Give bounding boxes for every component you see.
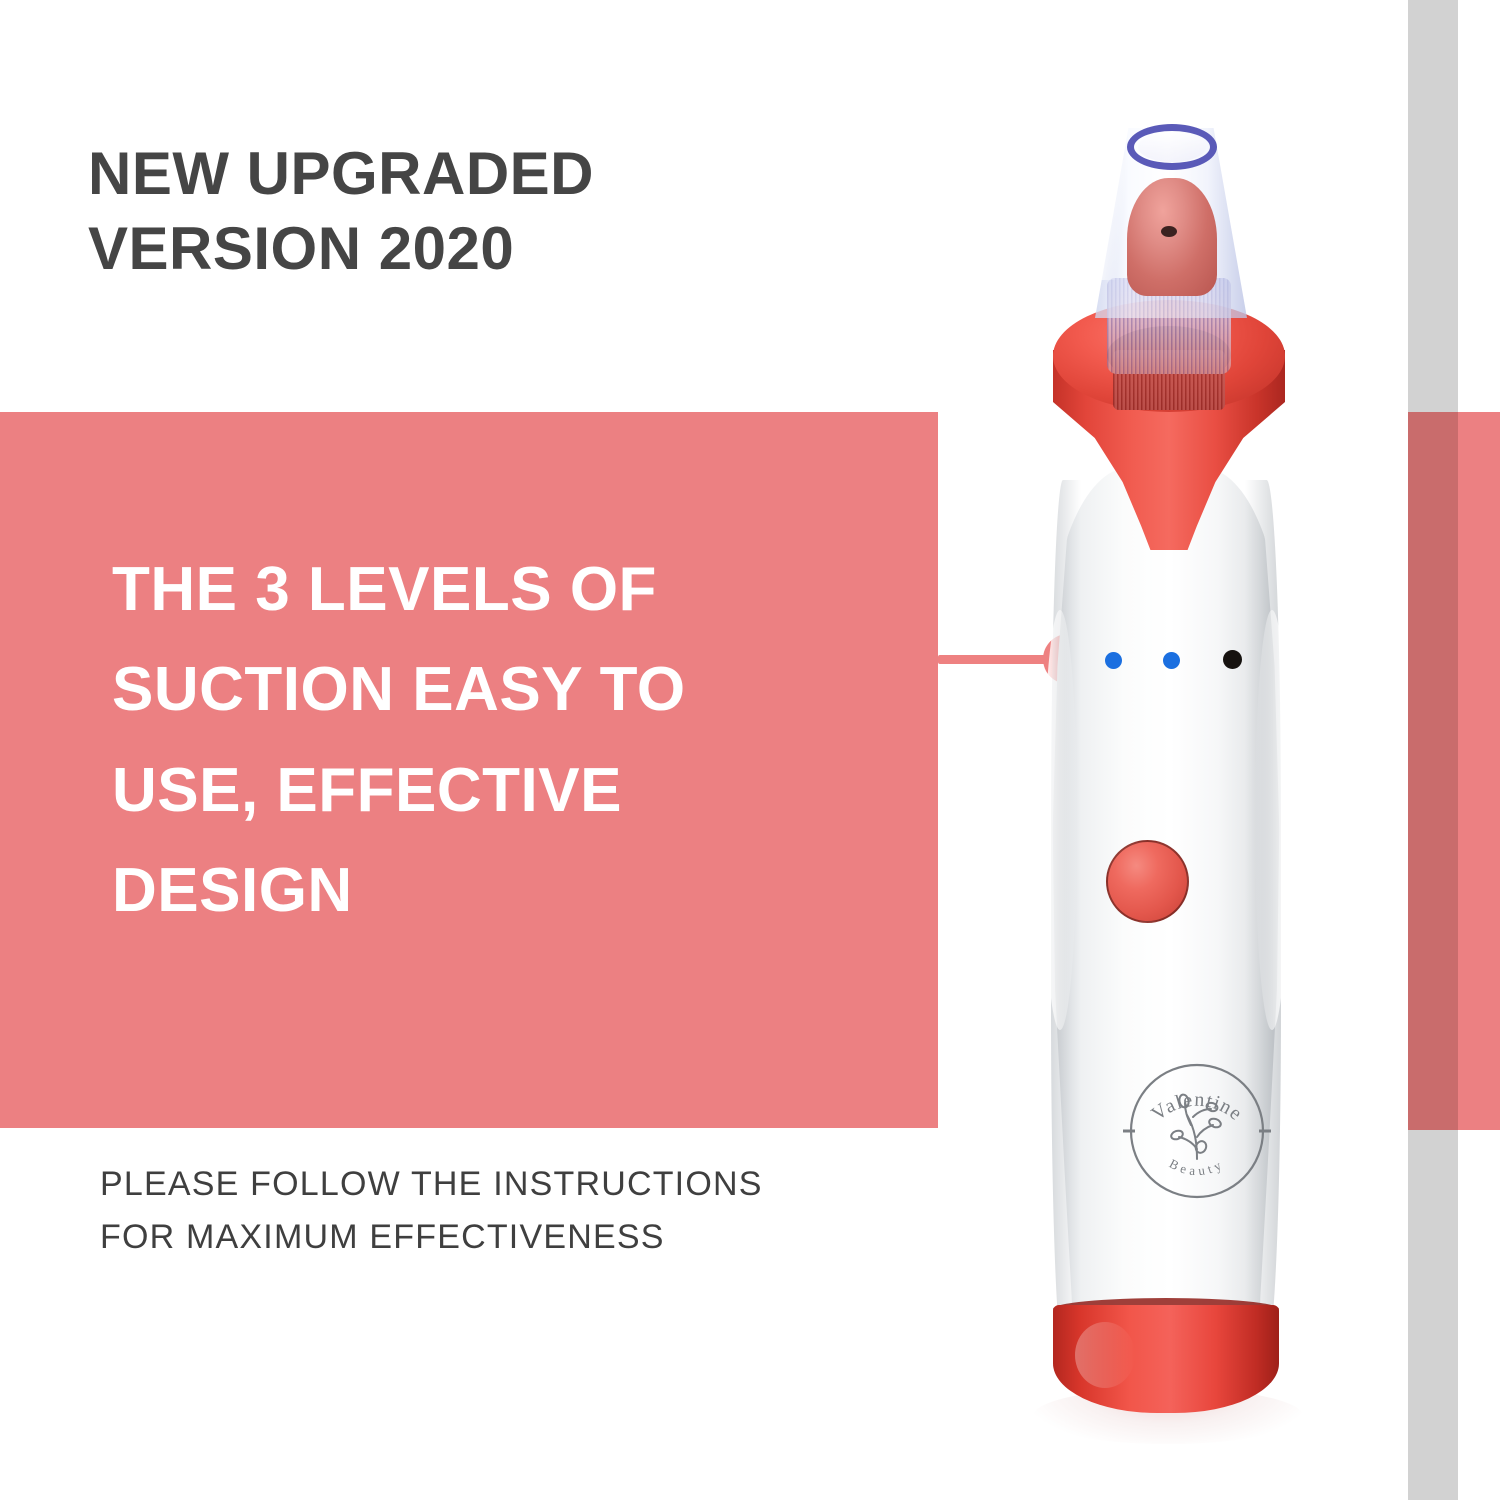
caption-line-1: PLEASE FOLLOW THE INSTRUCTIONS <box>100 1158 840 1211</box>
decor-stripe-pink-right-shade <box>1408 412 1458 1130</box>
headline-line-2: VERSION 2020 <box>88 211 848 286</box>
headline: NEW UPGRADED VERSION 2020 <box>88 136 848 286</box>
product-infographic: NEW UPGRADED VERSION 2020 THE 3 LEVELS O… <box>0 0 1500 1500</box>
caption: PLEASE FOLLOW THE INSTRUCTIONS FOR MAXIM… <box>100 1158 840 1263</box>
caption-line-2: FOR MAXIMUM EFFECTIVENESS <box>100 1211 840 1264</box>
banner-line-1: THE 3 LEVELS OF <box>112 540 902 640</box>
feature-banner: THE 3 LEVELS OF SUCTION EASY TO USE, EFF… <box>0 412 938 1128</box>
headline-line-1: NEW UPGRADED <box>88 136 848 211</box>
product-device: Valentine Beauty <box>955 50 1375 1450</box>
logo-text-top-el: Valentine <box>1147 1089 1247 1126</box>
brand-logo: Valentine Beauty <box>1121 1055 1273 1207</box>
device-base-cap-gloss <box>1075 1322 1135 1388</box>
feature-banner-text: THE 3 LEVELS OF SUCTION EASY TO USE, EFF… <box>112 540 902 942</box>
brand-logo-svg: Valentine Beauty <box>1121 1055 1273 1207</box>
banner-line-4: DESIGN <box>112 841 902 941</box>
decor-stripe-gray-top <box>1408 0 1458 412</box>
nozzle-suction-hole <box>1161 226 1177 237</box>
device-body-highlight-right <box>1255 610 1289 1030</box>
decor-stripe-pink-right <box>1408 412 1500 1130</box>
decor-stripe-gray-bottom <box>1408 1130 1458 1500</box>
suction-level-led-3 <box>1223 650 1242 669</box>
nozzle-mouth-inner <box>1138 132 1206 162</box>
power-button[interactable] <box>1106 840 1189 923</box>
suction-level-led-1 <box>1105 652 1122 669</box>
device-body-highlight-left <box>1043 610 1077 1030</box>
banner-line-3: USE, EFFECTIVE <box>112 741 902 841</box>
suction-level-led-2 <box>1163 652 1180 669</box>
nozzle-inner-core <box>1127 178 1217 296</box>
banner-line-2: SUCTION EASY TO <box>112 640 902 740</box>
